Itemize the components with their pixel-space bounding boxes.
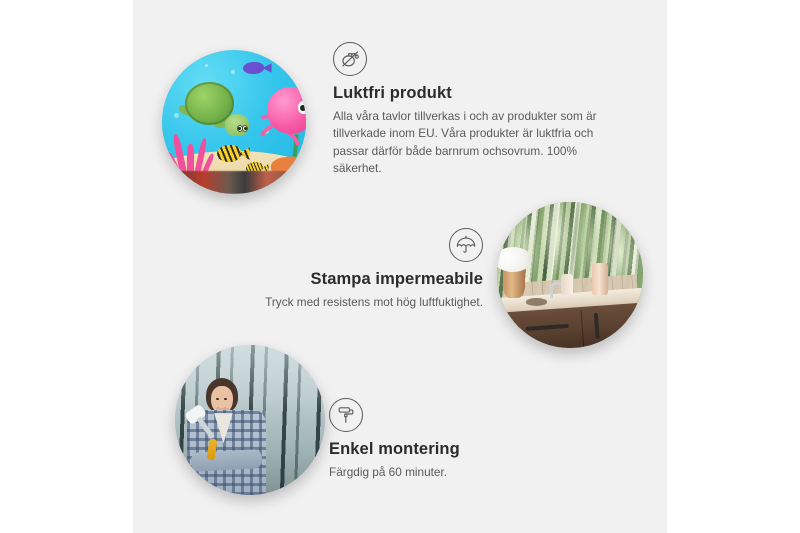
feature-easy: Enkel montering Färgdig på 60 minuter. bbox=[329, 398, 589, 481]
feature-title: Enkel montering bbox=[329, 440, 589, 459]
feature-waterproof: Stampa impermeabile Tryck med resistens … bbox=[213, 228, 483, 311]
feature-title: Stampa impermeabile bbox=[213, 270, 483, 289]
content-panel: Luktfri produkt Alla våra tavlor tillver… bbox=[133, 0, 667, 533]
thumbnail-underwater[interactable] bbox=[162, 50, 306, 194]
feature-title: Luktfri produkt bbox=[333, 84, 623, 103]
person-figure bbox=[184, 378, 268, 495]
paint-roller-icon bbox=[329, 398, 363, 432]
paint-roller-prop bbox=[186, 408, 208, 436]
seabed-strip bbox=[179, 171, 288, 194]
feature-odourless: Luktfri produkt Alla våra tavlor tillver… bbox=[333, 42, 623, 178]
octopus-icon bbox=[254, 87, 306, 145]
thumbnail-bathroom[interactable] bbox=[497, 202, 643, 348]
no-fragrance-icon bbox=[333, 42, 367, 76]
feature-body: Alla våra tavlor tillverkas i och av pro… bbox=[333, 108, 623, 178]
thumbnail-forest[interactable] bbox=[175, 345, 325, 495]
soap-dish-icon bbox=[526, 298, 546, 305]
coral-icon bbox=[171, 131, 220, 174]
feature-body: Tryck med resistens mot hög luftfuktighe… bbox=[213, 294, 483, 311]
soap-dispenser-icon bbox=[561, 274, 573, 296]
feature-body: Färgdig på 60 minuter. bbox=[329, 464, 589, 481]
bottle-icon bbox=[592, 263, 608, 295]
screenshot-root: Luktfri produkt Alla våra tavlor tillver… bbox=[0, 0, 800, 533]
umbrella-icon bbox=[449, 228, 483, 262]
turtle-icon bbox=[185, 82, 251, 134]
bubble-icon bbox=[174, 113, 179, 118]
